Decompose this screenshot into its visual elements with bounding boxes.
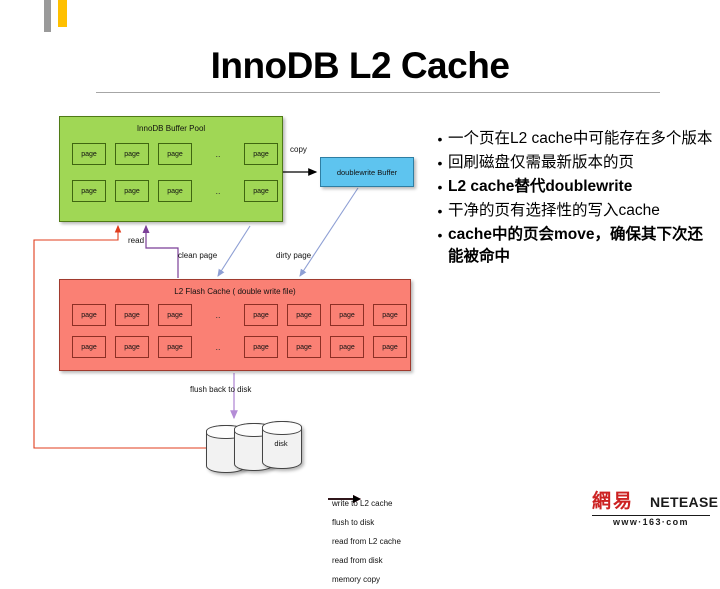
page-cell: page xyxy=(158,180,192,202)
page-cell: page xyxy=(72,304,106,326)
bullet-text: L2 cache替代doublewrite xyxy=(448,176,718,198)
innodb-buffer-pool-box: InnoDB Buffer Pool pagepagepage..pagepag… xyxy=(59,116,283,222)
bullet-item: •L2 cache替代doublewrite xyxy=(432,176,718,198)
page-cell: page xyxy=(287,336,321,358)
page-cell: page xyxy=(72,180,106,202)
page-cell: page xyxy=(373,336,407,358)
page-title: InnoDB L2 Cache xyxy=(0,44,720,88)
netease-url: www·163·com xyxy=(592,517,710,527)
decor-bar-yellow xyxy=(58,0,67,27)
page-cell: page xyxy=(72,336,106,358)
legend-item: read from L2 cache xyxy=(328,532,468,551)
page-cell: page xyxy=(287,304,321,326)
netease-en-name: NETEASE xyxy=(650,494,718,510)
page-cell: page xyxy=(115,143,149,165)
bullet-marker-icon: • xyxy=(432,152,448,174)
disk-label: disk xyxy=(262,439,300,448)
legend-item: flush to disk xyxy=(328,513,468,532)
label-copy: copy xyxy=(290,145,307,154)
label-dirty-page: dirty page xyxy=(276,251,311,260)
page-cell: page xyxy=(330,336,364,358)
bullet-item: •cache中的页会move，确保其下次还能被命中 xyxy=(432,224,718,268)
page-cell: page xyxy=(72,143,106,165)
page-ellipsis: .. xyxy=(201,143,235,165)
bullet-marker-icon: • xyxy=(432,128,448,150)
page-ellipsis: .. xyxy=(201,336,235,358)
doublewrite-buffer-box: doublewrite Buffer xyxy=(320,157,414,187)
bullet-text: 回刷磁盘仅需最新版本的页 xyxy=(448,152,718,174)
diagram-legend: write to L2 cacheflush to diskread from … xyxy=(328,494,468,589)
label-read: read xyxy=(128,236,144,245)
page-cell: page xyxy=(115,336,149,358)
bullet-item: •一个页在L2 cache中可能存在多个版本 xyxy=(432,128,718,150)
page-cell: page xyxy=(115,304,149,326)
netease-divider xyxy=(592,515,710,516)
page-cell: page xyxy=(330,304,364,326)
buffer-pool-title: InnoDB Buffer Pool xyxy=(60,124,282,133)
arrow-read-from-l2 xyxy=(146,226,178,278)
bullet-marker-icon: • xyxy=(432,200,448,222)
page-cell: page xyxy=(244,180,278,202)
bullet-text: 一个页在L2 cache中可能存在多个版本 xyxy=(448,128,718,150)
page-cell: page xyxy=(158,336,192,358)
arrow-clean-page-to-l2 xyxy=(218,226,250,276)
bullet-item: •干净的页有选择性的写入cache xyxy=(432,200,718,222)
arrow-dirty-page-to-l2 xyxy=(300,188,358,276)
bullet-marker-icon: • xyxy=(432,224,448,246)
bullet-item: •回刷磁盘仅需最新版本的页 xyxy=(432,152,718,174)
decor-bar-gray xyxy=(44,0,51,32)
page-cell: page xyxy=(244,143,278,165)
page-ellipsis: .. xyxy=(201,180,235,202)
bullet-text: 干净的页有选择性的写入cache xyxy=(448,200,718,222)
page-cell: page xyxy=(373,304,407,326)
title-underline xyxy=(96,92,660,93)
label-clean-page: clean page xyxy=(178,251,217,260)
legend-label: flush to disk xyxy=(332,518,374,527)
page-cell: page xyxy=(158,304,192,326)
l2-flash-cache-box: L2 Flash Cache ( double write file) page… xyxy=(59,279,411,371)
architecture-diagram: InnoDB Buffer Pool pagepagepage..pagepag… xyxy=(28,108,428,498)
netease-logo: 網易 NETEASE www·163·com xyxy=(592,490,710,532)
l2-cache-title: L2 Flash Cache ( double write file) xyxy=(60,287,410,296)
legend-item: read from disk xyxy=(328,551,468,570)
label-flush-back-to-disk: flush back to disk xyxy=(190,385,251,394)
legend-label: read from L2 cache xyxy=(332,537,401,546)
bullet-list: •一个页在L2 cache中可能存在多个版本•回刷磁盘仅需最新版本的页•L2 c… xyxy=(432,128,718,270)
page-ellipsis: .. xyxy=(201,304,235,326)
bullet-text: cache中的页会move，确保其下次还能被命中 xyxy=(448,224,718,268)
legend-label: read from disk xyxy=(332,556,383,565)
page-cell: page xyxy=(115,180,149,202)
legend-label: memory copy xyxy=(332,575,380,584)
page-cell: page xyxy=(244,304,278,326)
legend-arrow-icon xyxy=(328,494,364,504)
netease-cn-name: 網易 xyxy=(592,490,634,512)
bullet-marker-icon: • xyxy=(432,176,448,198)
legend-item: memory copy xyxy=(328,570,468,589)
page-cell: page xyxy=(244,336,278,358)
page-cell: page xyxy=(158,143,192,165)
